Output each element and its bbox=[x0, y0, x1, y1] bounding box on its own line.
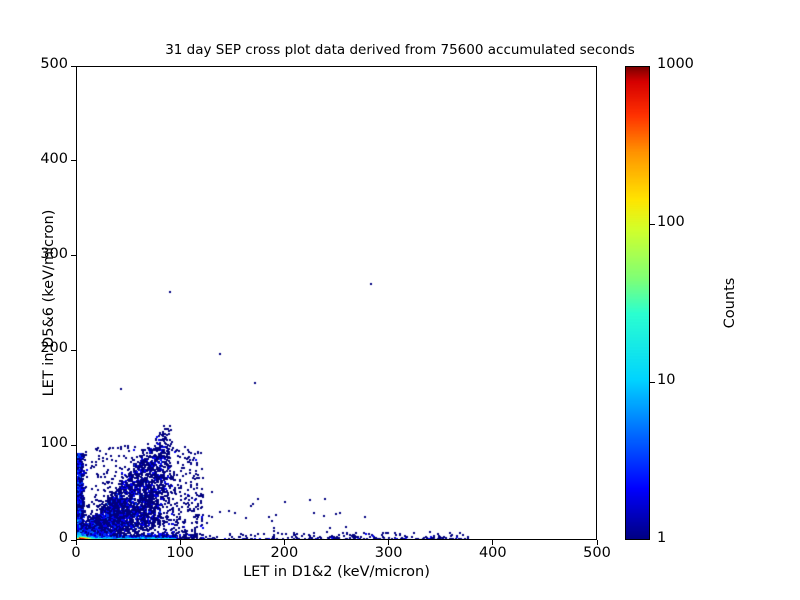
x-tick-label: 400 bbox=[453, 545, 533, 561]
colorbar-tick-label: 100 bbox=[657, 214, 685, 230]
colorbar bbox=[625, 66, 650, 540]
x-tick-label: 500 bbox=[557, 545, 637, 561]
colorbar-tick-label: 1 bbox=[657, 530, 666, 546]
scatter-plot-canvas bbox=[77, 67, 597, 540]
x-axis-label: LET in D1&2 (keV/micron) bbox=[0, 564, 673, 580]
colorbar-label: Counts bbox=[722, 66, 738, 540]
y-tick-label: 0 bbox=[10, 530, 68, 546]
y-tick-label: 200 bbox=[10, 340, 68, 356]
y-tick-mark bbox=[71, 255, 76, 256]
colorbar-tick-mark bbox=[650, 224, 655, 225]
colorbar-gradient bbox=[626, 67, 650, 540]
colorbar-tick-label: 1000 bbox=[657, 56, 694, 72]
y-tick-label: 400 bbox=[10, 151, 68, 167]
y-tick-mark bbox=[71, 66, 76, 67]
colorbar-tick-mark bbox=[650, 382, 655, 383]
y-tick-label: 300 bbox=[10, 246, 68, 262]
colorbar-tick-label: 10 bbox=[657, 372, 675, 388]
figure-canvas: 31 day SEP cross plot data derived from … bbox=[0, 0, 800, 600]
x-tick-label: 300 bbox=[349, 545, 429, 561]
y-tick-mark bbox=[71, 350, 76, 351]
y-axis-label: LET in D5&6 (keV/micron) bbox=[41, 66, 57, 540]
x-tick-label: 200 bbox=[244, 545, 324, 561]
x-tick-label: 100 bbox=[140, 545, 220, 561]
y-tick-label: 100 bbox=[10, 435, 68, 451]
plot-axes-area bbox=[76, 66, 597, 540]
y-tick-mark bbox=[71, 160, 76, 161]
x-tick-label: 0 bbox=[36, 545, 116, 561]
y-tick-mark bbox=[71, 445, 76, 446]
y-tick-label: 500 bbox=[10, 56, 68, 72]
